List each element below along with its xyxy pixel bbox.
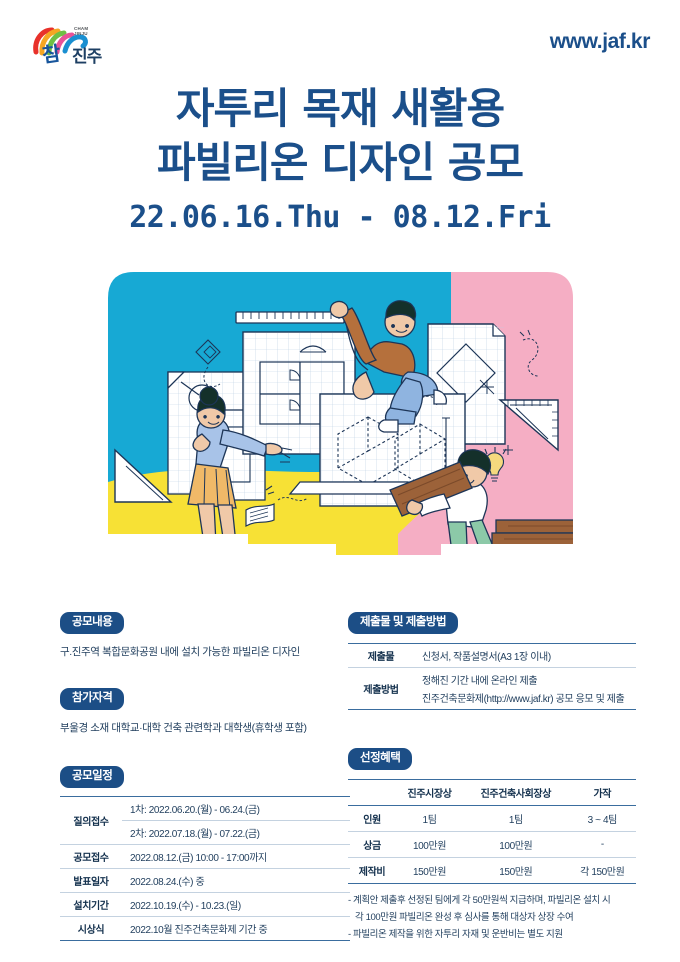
schedule-label-1: 공모접수 (60, 845, 122, 869)
section-benefits: 선정혜택 진주시장상 진주건축사회장상 가작 인원 1팀 1팀 3 ~ 4팀 상… (348, 748, 636, 942)
table-row: 인원 1팀 1팀 3 ~ 4팀 (348, 806, 636, 832)
table-row: 발표일자 2022.08.24.(수) 중 (60, 869, 350, 893)
timber-stack (492, 520, 588, 572)
left-content-column: 공모내용 구.진주역 복합문화공원 내에 설치 가능한 파빌리온 디자인 참가자… (60, 612, 350, 945)
table-row: 공모접수 2022.08.12.(금) 10:00 - 17:00까지 (60, 845, 350, 869)
schedule-value-3: 2022.10.19.(수) - 10.23.(일) (122, 893, 350, 917)
benefits-row-0-cell-0: 1팀 (396, 806, 463, 832)
schedule-value-1: 2022.08.12.(금) 10:00 - 17:00까지 (122, 845, 350, 869)
table-row: 질의접수 1차: 2022.06.20.(월) - 06.24.(금) (60, 797, 350, 821)
logo-cham-character: 참 (40, 37, 62, 68)
badge-competition-content: 공모내용 (60, 612, 124, 634)
schedule-value-2: 2022.08.24.(수) 중 (122, 869, 350, 893)
table-row: 제출물 신청서, 작품설명서(A3 1장 이내) (348, 644, 636, 668)
table-row: 제출방법 정해진 기간 내에 온라인 제출 진주건축문화제(http://www… (348, 668, 636, 710)
submission-label-0: 제출물 (348, 644, 414, 668)
schedule-value-0-1: 2차: 2022.07.18.(월) - 07.22.(금) (122, 821, 350, 845)
submission-value-0: 신청서, 작품설명서(A3 1장 이내) (414, 644, 636, 668)
table-row: 상금 100만원 100만원 - (348, 832, 636, 858)
title-line-1: 자투리 목재 새활용 (0, 82, 680, 136)
section-schedule: 공모일정 질의접수 1차: 2022.06.20.(월) - 06.24.(금)… (60, 766, 350, 941)
section-competition-content: 공모내용 구.진주역 복합문화공원 내에 설치 가능한 파빌리온 디자인 (60, 612, 350, 660)
poster-root: 참 CHAM JINJU 진주 www.jaf.kr 자투리 목재 새활용 파빌… (0, 0, 680, 962)
benefits-row-0-cell-1: 1팀 (463, 806, 569, 832)
hero-illustration (68, 272, 613, 590)
competition-content-text: 구.진주역 복합문화공원 내에 설치 가능한 파빌리온 디자인 (60, 644, 350, 660)
eligibility-text: 부울경 소재 대학교·대학 건축 관련학과 대학생(휴학생 포함) (60, 720, 350, 736)
title-line-2: 파빌리온 디자인 공모 (0, 136, 680, 190)
submission-table: 제출물 신청서, 작품설명서(A3 1장 이내) 제출방법 정해진 기간 내에 … (348, 643, 636, 710)
benefits-row-1-cell-2: - (569, 832, 636, 858)
table-row: 제작비 150만원 150만원 각 150만원 (348, 858, 636, 884)
benefits-row-1-label: 상금 (348, 832, 396, 858)
benefits-row-2-cell-2: 각 150만원 (569, 858, 636, 884)
section-submission: 제출물 및 제출방법 제출물 신청서, 작품설명서(A3 1장 이내) 제출방법… (348, 612, 636, 710)
cham-jinju-logo: 참 CHAM JINJU 진주 (28, 22, 120, 70)
benefits-col-0 (348, 780, 396, 806)
badge-benefits: 선정혜택 (348, 748, 412, 770)
schedule-label-4: 시상식 (60, 917, 122, 941)
logo-korean-text: 진주 (72, 42, 101, 67)
benefits-row-2-label: 제작비 (348, 858, 396, 884)
benefits-notes: - 계획안 제출후 선정된 팀에게 각 50만원씩 지급하며, 파빌리온 설치 … (348, 893, 636, 942)
straight-ruler-top (236, 312, 344, 323)
schedule-table: 질의접수 1차: 2022.06.20.(월) - 06.24.(금) 2차: … (60, 796, 350, 941)
badge-eligibility: 참가자격 (60, 688, 124, 710)
logo-english-text: CHAM JINJU (74, 26, 88, 36)
schedule-label-0: 질의접수 (60, 797, 122, 845)
schedule-label-2: 발표일자 (60, 869, 122, 893)
benefits-row-2-cell-1: 150만원 (463, 858, 569, 884)
section-eligibility: 참가자격 부울경 소재 대학교·대학 건축 관련학과 대학생(휴학생 포함) (60, 688, 350, 736)
table-row: 시상식 2022.10월 진주건축문화제 기간 중 (60, 917, 350, 941)
benefits-row-2-cell-0: 150만원 (396, 858, 463, 884)
badge-submission: 제출물 및 제출방법 (348, 612, 458, 634)
website-url[interactable]: www.jaf.kr (550, 30, 650, 54)
right-content-column: 제출물 및 제출방법 제출물 신청서, 작품설명서(A3 1장 이내) 제출방법… (348, 612, 636, 946)
illustration-svg (68, 272, 613, 590)
schedule-value-0-0: 1차: 2022.06.20.(월) - 06.24.(금) (122, 797, 350, 821)
schedule-label-3: 설치기간 (60, 893, 122, 917)
benefits-col-1: 진주시장상 (396, 780, 463, 806)
submission-label-1: 제출방법 (348, 668, 414, 710)
badge-schedule: 공모일정 (60, 766, 124, 788)
competition-dates: 22.06.16.Thu - 08.12.Fri (0, 200, 680, 235)
benefits-note-1: 각 100만원 파빌리온 완성 후 심사를 통해 대상자 상장 수여 (348, 910, 636, 925)
poster-header: 참 CHAM JINJU 진주 www.jaf.kr (0, 0, 680, 80)
table-row: 설치기간 2022.10.19.(수) - 10.23.(일) (60, 893, 350, 917)
benefits-col-2: 진주건축사회장상 (463, 780, 569, 806)
table-header-row: 진주시장상 진주건축사회장상 가작 (348, 780, 636, 806)
benefits-row-1-cell-0: 100만원 (396, 832, 463, 858)
benefits-note-0: - 계획안 제출후 선정된 팀에게 각 50만원씩 지급하며, 파빌리온 설치 … (348, 893, 636, 908)
poster-title-block: 자투리 목재 새활용 파빌리온 디자인 공모 22.06.16.Thu - 08… (0, 82, 680, 235)
submission-value-1-1: 진주건축문화제(http://www.jaf.kr) 공모 응모 및 제출 (422, 690, 634, 705)
benefits-row-1-cell-1: 100만원 (463, 832, 569, 858)
benefits-note-2: - 파빌리온 제작을 위한 자투리 자재 및 운반비는 별도 지원 (348, 927, 636, 942)
submission-value-1-0: 정해진 기간 내에 온라인 제출 (422, 672, 634, 687)
schedule-value-4: 2022.10월 진주건축문화제 기간 중 (122, 917, 350, 941)
benefits-table: 진주시장상 진주건축사회장상 가작 인원 1팀 1팀 3 ~ 4팀 상금 100… (348, 779, 636, 884)
benefits-col-3: 가작 (569, 780, 636, 806)
benefits-row-0-cell-2: 3 ~ 4팀 (569, 806, 636, 832)
benefits-row-0-label: 인원 (348, 806, 396, 832)
